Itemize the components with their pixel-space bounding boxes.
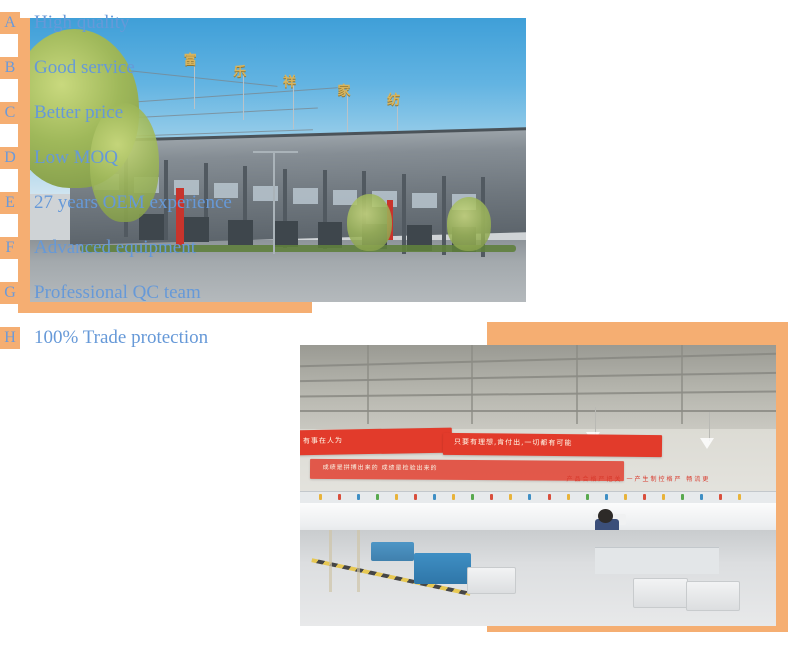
blue-crate [414, 553, 471, 584]
feature-badge-a: A [0, 12, 20, 34]
ladder-leg [357, 530, 360, 592]
feature-badge-b: B [0, 57, 20, 79]
pendant-lamp-wire [595, 407, 596, 435]
feature-badge-e: E [0, 192, 20, 214]
pendant-lamp-wire [709, 412, 710, 440]
white-crate [467, 567, 517, 594]
feature-label-b: Good service [34, 57, 135, 79]
factory-interior-frame: 有事在人为 只要有理想,肯付出,一切都有可能 成绩是拼搏出来的 成绩是检验出来的… [487, 322, 788, 632]
feature-item-h: H 100% Trade protection [0, 315, 800, 360]
feature-label-g: Professional QC team [34, 282, 201, 304]
motivational-banner: 有事在人为 [300, 428, 453, 456]
white-crate [686, 581, 740, 611]
feature-badge-c: C [0, 102, 20, 124]
feature-badge-g: G [0, 282, 20, 304]
company-profile-banner: 富 乐 祥 家 纺 [0, 0, 800, 648]
pendant-lamp [700, 438, 714, 449]
feature-label-c: Better price [34, 102, 123, 124]
machine-rail [300, 491, 776, 503]
feature-label-a: High quality [34, 12, 130, 34]
feature-label-h: 100% Trade protection [34, 327, 208, 349]
sewing-table [595, 547, 719, 573]
feature-item-e: E 27 years OEM experience [0, 180, 800, 225]
feature-label-e: 27 years OEM experience [34, 192, 232, 214]
feature-item-c: C Better price [0, 90, 800, 135]
ladder-leg [329, 530, 332, 592]
feature-item-d: D Low MOQ [0, 135, 800, 180]
feature-item-f: F Advanced equipment [0, 225, 800, 270]
motivational-banner: 只要有理想,肯付出,一切都有可能 [443, 432, 662, 457]
feature-badge-h: H [0, 327, 20, 349]
feature-list-left: E 27 years OEM experience F Advanced equ… [0, 180, 800, 360]
feature-item-b: B Good service [0, 45, 800, 90]
feature-badge-d: D [0, 147, 20, 169]
feature-label-d: Low MOQ [34, 147, 118, 169]
white-crate [633, 578, 687, 608]
feature-label-f: Advanced equipment [34, 237, 196, 259]
wall-slogan: 产品合格严把关 一产生制控格严 畅流更 [567, 474, 711, 483]
feature-item-g: G Professional QC team [0, 270, 800, 315]
feature-list-right: A High quality B Good service C Better p… [0, 0, 800, 180]
factory-interior-photo: 有事在人为 只要有理想,肯付出,一切都有可能 成绩是拼搏出来的 成绩是检验出来的… [300, 345, 776, 626]
feature-item-a: A High quality [0, 0, 800, 45]
feature-badge-f: F [0, 237, 20, 259]
blue-crate [371, 542, 414, 562]
